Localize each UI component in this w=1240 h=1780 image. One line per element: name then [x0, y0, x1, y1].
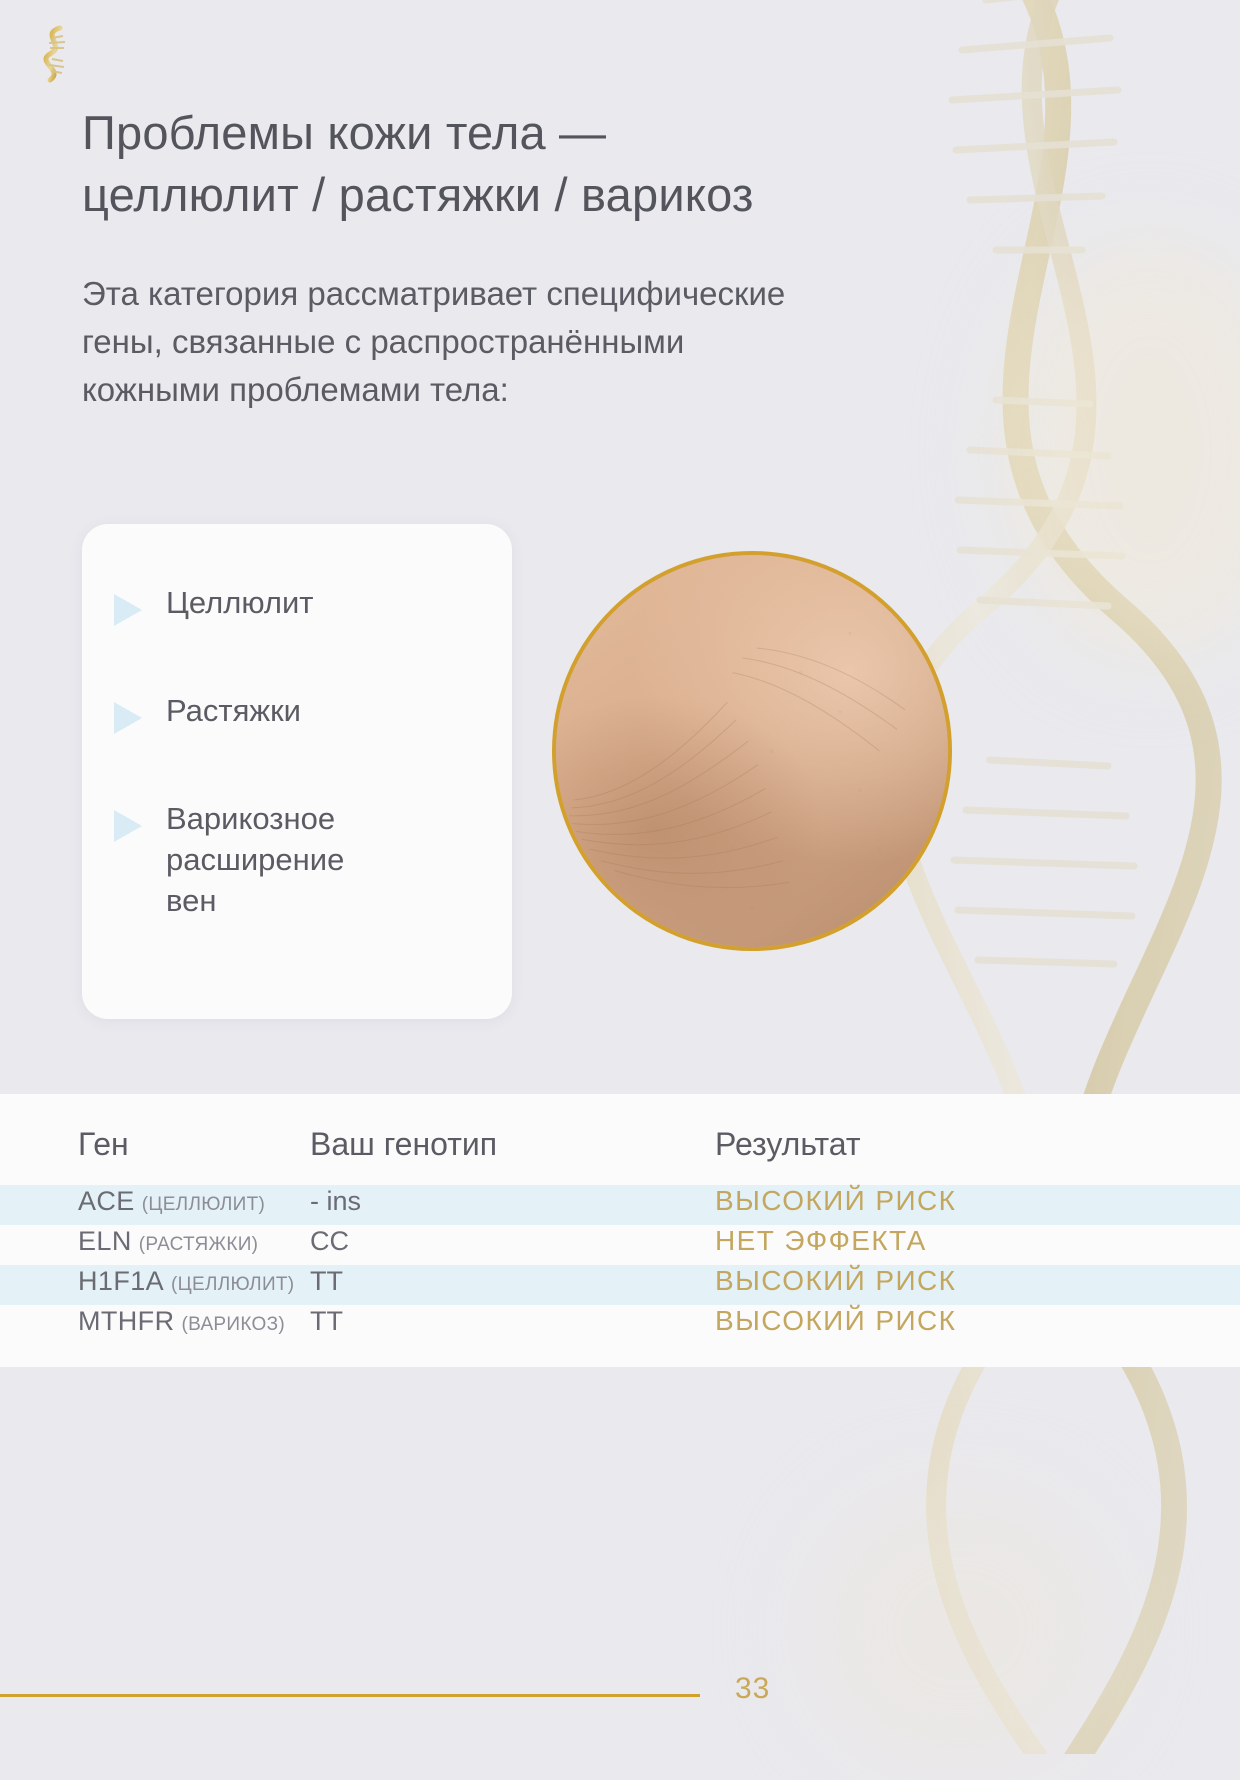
- background-glow-lower: [800, 1480, 1120, 1780]
- list-item: Растяжки: [106, 690, 492, 734]
- dna-helix-icon: [30, 22, 78, 84]
- column-header-genotype: Ваш генотип: [310, 1126, 715, 1163]
- page-number: 33: [735, 1672, 770, 1706]
- cell-genotype: TT: [310, 1266, 715, 1297]
- column-header-gene: Ген: [0, 1126, 310, 1163]
- cell-gene-note: (РАСТЯЖКИ): [139, 1234, 259, 1255]
- list-item-label: Варикозное расширение вен: [166, 798, 344, 922]
- table-row: ACE(ЦЕЛЛЮЛИТ) - ins ВЫСОКИЙ РИСК: [0, 1185, 1240, 1225]
- table-row: ELN(РАСТЯЖКИ) CC НЕТ ЭФФЕКТА: [0, 1225, 1240, 1265]
- triangle-bullet-icon: [114, 702, 142, 734]
- page-title-line-1: Проблемы кожи тела —: [82, 102, 962, 164]
- conditions-card: Целлюлит Растяжки Варикозное расширение …: [82, 524, 512, 1019]
- triangle-bullet-icon: [114, 594, 142, 626]
- table-row: MTHFR(ВАРИКОЗ) TT ВЫСОКИЙ РИСК: [0, 1305, 1240, 1345]
- cell-gene-note: (ВАРИКОЗ): [181, 1314, 285, 1335]
- list-item-label: Растяжки: [166, 690, 301, 731]
- triangle-bullet-icon: [114, 810, 142, 842]
- cell-result: ВЫСОКИЙ РИСК: [715, 1305, 1162, 1337]
- page-title-line-2: целлюлит / растяжки / варикоз: [82, 164, 962, 226]
- footer-rule: [0, 1694, 700, 1697]
- cell-gene: MTHFR: [78, 1306, 174, 1336]
- cell-genotype: CC: [310, 1226, 715, 1257]
- table-header-row: Ген Ваш генотип Результат: [0, 1094, 1240, 1185]
- page-title: Проблемы кожи тела — целлюлит / растяжки…: [82, 102, 962, 226]
- list-item: Варикозное расширение вен: [106, 798, 492, 922]
- background-glow: [1000, 240, 1240, 660]
- table-row: H1F1A(ЦЕЛЛЮЛИТ) TT ВЫСОКИЙ РИСК: [0, 1265, 1240, 1305]
- list-item: Целлюлит: [106, 582, 492, 626]
- cell-genotype: - ins: [310, 1186, 715, 1217]
- skin-creases: [556, 555, 948, 947]
- cell-result: НЕТ ЭФФЕКТА: [715, 1225, 1162, 1257]
- conditions-list: Целлюлит Растяжки Варикозное расширение …: [106, 582, 492, 922]
- cell-gene: ELN: [78, 1226, 132, 1256]
- column-header-result: Результат: [715, 1126, 1162, 1163]
- cell-gene: H1F1A: [78, 1266, 164, 1296]
- cell-gene: ACE: [78, 1186, 135, 1216]
- genes-table: Ген Ваш генотип Результат ACE(ЦЕЛЛЮЛИТ) …: [0, 1094, 1240, 1367]
- cell-result: ВЫСОКИЙ РИСК: [715, 1185, 1162, 1217]
- cell-result: ВЫСОКИЙ РИСК: [715, 1265, 1162, 1297]
- intro-paragraph: Эта категория рассматривает специфически…: [82, 270, 802, 415]
- skin-cellulite-photo: [552, 551, 952, 951]
- list-item-label: Целлюлит: [166, 582, 314, 623]
- cell-genotype: TT: [310, 1306, 715, 1337]
- cell-gene-note: (ЦЕЛЛЮЛИТ): [142, 1194, 265, 1215]
- cell-gene-note: (ЦЕЛЛЮЛИТ): [171, 1274, 294, 1295]
